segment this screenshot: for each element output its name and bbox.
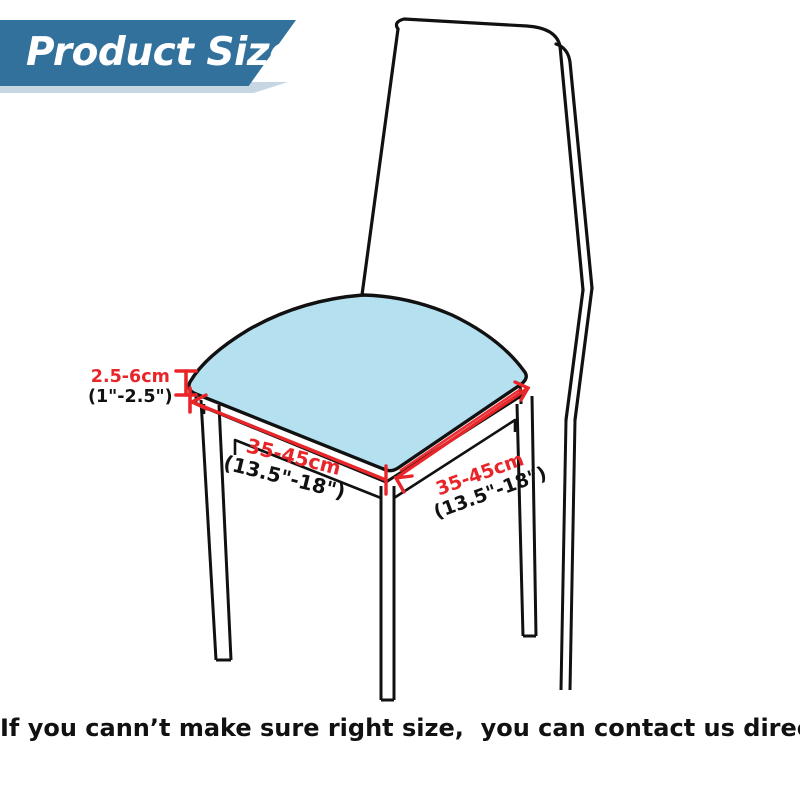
chair-leg-front-right [517,396,536,636]
chair-leg-rear-right [561,420,575,690]
product-size-infographic: Product Size [0,0,800,800]
dimension-label-thickness: 2.5-6cm (1"-2.5") [88,368,173,407]
footer-caption: If you cann’t make sure right size, you … [0,714,800,742]
chair-leg-front-left [201,400,231,660]
thickness-cm-value: 2.5-6cm [88,368,173,388]
chair-back [362,19,592,295]
thickness-inch-value: (1"-2.5") [88,388,173,408]
chair-leg-front-center [381,486,394,700]
chair-rear-right-post [566,288,592,420]
